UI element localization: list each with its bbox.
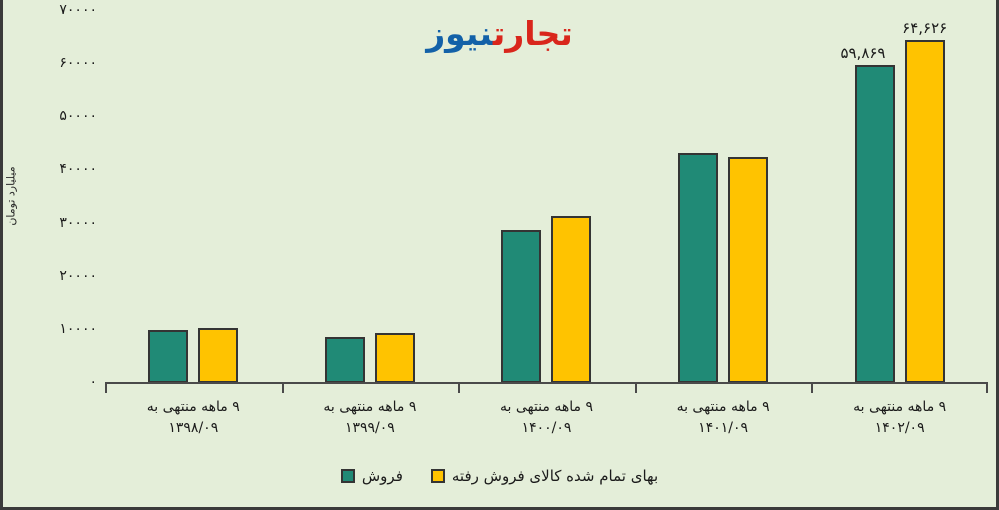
y-axis-title: میلیارد تومان (5, 166, 18, 225)
bar-cogs[interactable] (551, 216, 591, 383)
bar-sales[interactable] (678, 153, 718, 383)
bar-value-label: ۶۴,۶۲۶ (902, 19, 947, 37)
plot-area: ۵۹,۸۶۹۶۴,۶۲۶ (105, 10, 988, 383)
bar-group (105, 10, 282, 383)
y-axis-tick-label: ۲۰۰۰۰ (59, 268, 97, 284)
bar-sales[interactable]: ۵۹,۸۶۹ (855, 65, 895, 383)
bar-group (635, 10, 812, 383)
x-axis-tick (105, 383, 107, 393)
legend-swatch-icon (431, 469, 445, 483)
x-axis-label-line: ۹ ماهه منتهی به (282, 397, 459, 418)
x-axis: ۹ ماهه منتهی به۱۳۹۸/۰۹۹ ماهه منتهی به۱۳۹… (105, 383, 988, 443)
x-axis-label-line: ۱۴۰۱/۰۹ (635, 418, 812, 439)
bar-group (458, 10, 635, 383)
x-axis-label-line: ۱۳۹۸/۰۹ (105, 418, 282, 439)
x-axis-label-line: ۹ ماهه منتهی به (458, 397, 635, 418)
x-axis-category-label: ۹ ماهه منتهی به۱۴۰۰/۰۹ (458, 397, 635, 439)
y-axis-tick-label: ۴۰۰۰۰ (59, 161, 97, 177)
x-axis-label-line: ۱۳۹۹/۰۹ (282, 418, 459, 439)
x-axis-tick (458, 383, 460, 393)
legend-item[interactable]: فروش (341, 467, 403, 485)
y-axis-tick-label: ۵۰۰۰۰ (59, 108, 97, 124)
bar-sales[interactable] (501, 230, 541, 383)
chart-container: تجارتنیوز ۷۰۰۰۰۶۰۰۰۰۵۰۰۰۰۴۰۰۰۰۳۰۰۰۰۲۰۰۰۰… (3, 0, 996, 507)
x-axis-category-label: ۹ ماهه منتهی به۱۳۹۹/۰۹ (282, 397, 459, 439)
bar-sales[interactable] (148, 330, 188, 383)
legend-label: فروش (362, 467, 403, 485)
x-axis-tick (282, 383, 284, 393)
y-axis-tick-label: ۳۰۰۰۰ (59, 215, 97, 231)
x-axis-label-line: ۱۴۰۰/۰۹ (458, 418, 635, 439)
x-axis-category-label: ۹ ماهه منتهی به۱۴۰۱/۰۹ (635, 397, 812, 439)
y-axis-tick-label: ۷۰۰۰۰ (59, 2, 97, 18)
y-axis-tick-label: ۱۰۰۰۰ (59, 321, 97, 337)
bar-sales[interactable] (325, 337, 365, 383)
y-axis-tick-label: ۰ (89, 374, 97, 390)
bar-value-label: ۵۹,۸۶۹ (840, 44, 885, 62)
x-axis-label-line: ۹ ماهه منتهی به (105, 397, 282, 418)
chart-legend: بهای تمام شده کالای فروش رفتهفروش (3, 467, 996, 485)
x-axis-label-line: ۹ ماهه منتهی به (635, 397, 812, 418)
bar-group (282, 10, 459, 383)
x-axis-category-label: ۹ ماهه منتهی به۱۴۰۲/۰۹ (811, 397, 988, 439)
legend-label: بهای تمام شده کالای فروش رفته (452, 467, 658, 485)
legend-swatch-icon (341, 469, 355, 483)
bar-group: ۵۹,۸۶۹۶۴,۶۲۶ (811, 10, 988, 383)
bar-cogs[interactable] (198, 328, 238, 383)
x-axis-tick (635, 383, 637, 393)
x-axis-label-line: ۱۴۰۲/۰۹ (811, 418, 988, 439)
y-axis: ۷۰۰۰۰۶۰۰۰۰۵۰۰۰۰۴۰۰۰۰۳۰۰۰۰۲۰۰۰۰۱۰۰۰۰۰ (3, 0, 105, 392)
x-axis-tick (811, 383, 813, 393)
y-axis-tick-label: ۶۰۰۰۰ (59, 55, 97, 71)
bar-cogs[interactable]: ۶۴,۶۲۶ (905, 40, 945, 383)
legend-item[interactable]: بهای تمام شده کالای فروش رفته (431, 467, 658, 485)
bar-cogs[interactable] (375, 333, 415, 383)
x-axis-tick (986, 383, 988, 393)
x-axis-label-line: ۹ ماهه منتهی به (811, 397, 988, 418)
x-axis-category-label: ۹ ماهه منتهی به۱۳۹۸/۰۹ (105, 397, 282, 439)
bar-cogs[interactable] (728, 157, 768, 383)
